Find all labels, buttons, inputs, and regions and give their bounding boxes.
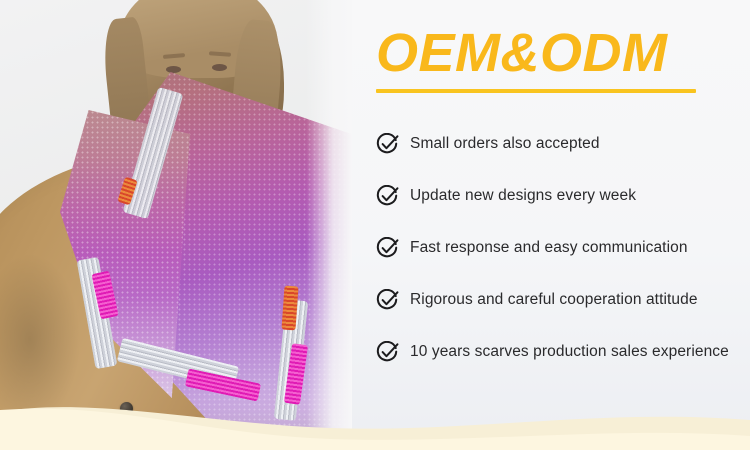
feature-label: 10 years scarves production sales experi… — [410, 343, 729, 361]
feature-item: 10 years scarves production sales experi… — [376, 326, 750, 378]
headline-underline — [376, 89, 696, 93]
promo-content: OEM&ODM Small orders also accepted Updat… — [376, 0, 750, 450]
feature-label: Rigorous and careful cooperation attitud… — [410, 291, 698, 309]
check-circle-icon — [376, 237, 399, 260]
headline-title: OEM&ODM — [376, 26, 706, 80]
check-circle-icon — [376, 133, 399, 156]
feature-label: Update new designs every week — [410, 187, 636, 205]
feature-list: Small orders also accepted Update new de… — [376, 118, 750, 378]
feature-label: Small orders also accepted — [410, 135, 600, 153]
check-circle-icon — [376, 185, 399, 208]
scarf — [0, 0, 352, 450]
oem-odm-promo-banner: OEM&ODM Small orders also accepted Updat… — [0, 0, 750, 450]
product-photo — [0, 0, 352, 450]
wave-decoration-front — [0, 406, 750, 450]
photo-background — [0, 0, 352, 450]
feature-item: Update new designs every week — [376, 170, 750, 222]
feature-item: Rigorous and careful cooperation attitud… — [376, 274, 750, 326]
check-circle-icon — [376, 341, 399, 364]
photo-edge-fade — [306, 0, 352, 450]
headline-block: OEM&ODM — [376, 26, 706, 93]
check-circle-icon — [376, 289, 399, 312]
feature-label: Fast response and easy communication — [410, 239, 688, 257]
feature-item: Small orders also accepted — [376, 118, 750, 170]
feature-item: Fast response and easy communication — [376, 222, 750, 274]
